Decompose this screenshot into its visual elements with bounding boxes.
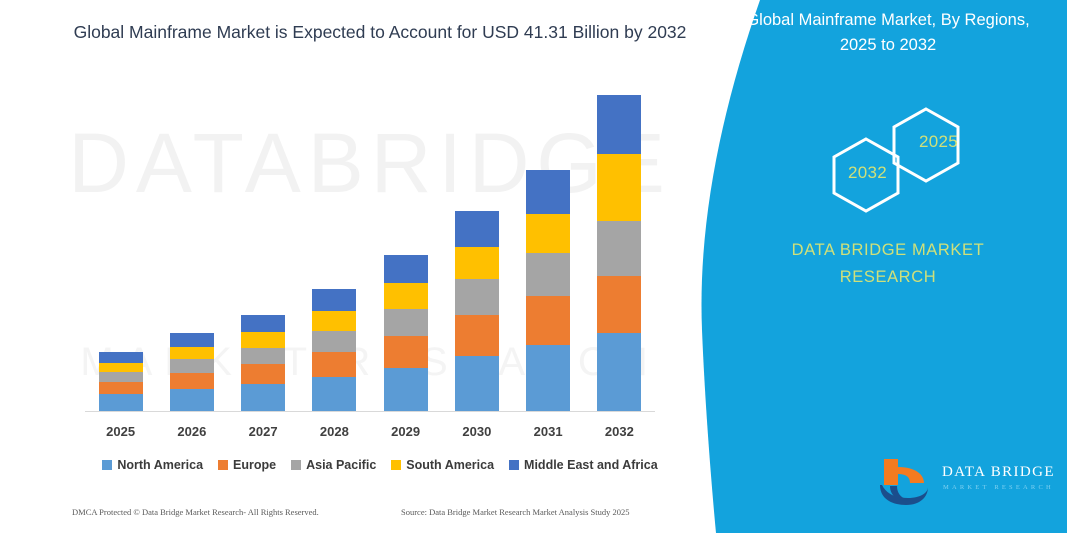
bar-group: [312, 289, 356, 411]
bar-group: [99, 352, 143, 411]
bar-segment: [99, 352, 143, 363]
legend-swatch-icon: [509, 460, 519, 470]
bar-segment: [455, 247, 499, 280]
x-axis-tick-label: 2031: [513, 424, 583, 439]
bar-group: [597, 95, 641, 411]
bar-segment: [312, 311, 356, 331]
bar-segment: [241, 364, 285, 384]
bar-segment: [99, 372, 143, 382]
legend-item[interactable]: South America: [391, 458, 494, 472]
legend-item[interactable]: Asia Pacific: [291, 458, 376, 472]
data-bridge-logo: DATA BRIDGE MARKET RESEARCH: [876, 455, 1066, 515]
bar-segment: [455, 211, 499, 247]
hexagon-icons: [806, 105, 1006, 215]
bar-segment: [170, 359, 214, 373]
bar-segment: [597, 154, 641, 221]
bar-segment: [241, 384, 285, 411]
x-axis-line: [85, 411, 655, 412]
bar-group: [241, 315, 285, 411]
bar-group: [455, 211, 499, 411]
legend-label: South America: [406, 458, 494, 472]
chart-legend: North AmericaEuropeAsia PacificSouth Ame…: [85, 455, 675, 475]
x-axis-tick-label: 2027: [228, 424, 298, 439]
bar-segment: [241, 332, 285, 347]
bar-segment: [312, 377, 356, 411]
bar-segment: [384, 336, 428, 368]
bar-group: [384, 255, 428, 411]
bar-segment: [455, 315, 499, 356]
legend-label: North America: [117, 458, 203, 472]
brand-line-1: DATA BRIDGE MARKET: [732, 237, 1044, 264]
bar-segment: [312, 331, 356, 352]
legend-label: Europe: [233, 458, 276, 472]
bar-segment: [170, 333, 214, 347]
bar-segment: [455, 356, 499, 411]
bar-segment: [526, 170, 570, 214]
legend-item[interactable]: North America: [102, 458, 203, 472]
bar-segment: [384, 255, 428, 283]
bar-segment: [384, 309, 428, 337]
bar-segment: [241, 348, 285, 365]
legend-label: Asia Pacific: [306, 458, 376, 472]
bar-segment: [597, 95, 641, 154]
bar-segment: [241, 315, 285, 332]
bar-chart-plot: [85, 95, 655, 411]
bar-segment: [312, 352, 356, 377]
bar-segment: [526, 253, 570, 295]
hexagon-group: 2025 2032: [806, 105, 1006, 215]
bar-segment: [597, 276, 641, 333]
legend-swatch-icon: [391, 460, 401, 470]
bar-segment: [170, 373, 214, 389]
bar-segment: [597, 221, 641, 277]
bar-segment: [384, 283, 428, 308]
bar-segment: [170, 389, 214, 411]
bar-group: [170, 333, 214, 411]
x-axis-tick-label: 2025: [86, 424, 156, 439]
brand-line-2: RESEARCH: [732, 264, 1044, 291]
bar-segment: [99, 382, 143, 394]
panel-content: Global Mainframe Market, By Regions, 202…: [706, 0, 1067, 533]
legend-swatch-icon: [102, 460, 112, 470]
bar-segment: [526, 345, 570, 411]
bar-group: [526, 170, 570, 411]
x-axis-tick-label: 2030: [442, 424, 512, 439]
logo-wordmark: DATA BRIDGE: [942, 464, 1055, 481]
hexagon-label-start: 2025: [919, 132, 958, 152]
bar-segment: [170, 347, 214, 359]
legend-swatch-icon: [291, 460, 301, 470]
bar-segment: [455, 279, 499, 314]
legend-swatch-icon: [218, 460, 228, 470]
hexagon-label-end: 2032: [848, 163, 887, 183]
x-axis-labels: 20252026202720282029203020312032: [85, 424, 655, 446]
bar-segment: [597, 333, 641, 411]
brand-name: DATA BRIDGE MARKET RESEARCH: [732, 237, 1044, 291]
logo-tagline: MARKET RESEARCH: [943, 484, 1054, 491]
footer: DMCA Protected © Data Bridge Market Rese…: [0, 507, 700, 527]
bar-segment: [526, 296, 570, 346]
logo-mark-icon: [876, 455, 936, 507]
footer-source: Source: Data Bridge Market Research Mark…: [401, 507, 630, 517]
legend-item[interactable]: Middle East and Africa: [509, 458, 658, 472]
panel-title: Global Mainframe Market, By Regions, 202…: [732, 8, 1044, 58]
chart-infographic: Global Mainframe Market is Expected to A…: [0, 0, 1067, 533]
bar-segment: [99, 394, 143, 411]
legend-item[interactable]: Europe: [218, 458, 276, 472]
bar-segment: [526, 214, 570, 254]
x-axis-tick-label: 2032: [584, 424, 654, 439]
bar-segment: [99, 363, 143, 372]
x-axis-tick-label: 2026: [157, 424, 227, 439]
bar-segment: [312, 289, 356, 311]
x-axis-tick-label: 2028: [299, 424, 369, 439]
x-axis-tick-label: 2029: [371, 424, 441, 439]
legend-label: Middle East and Africa: [524, 458, 658, 472]
page-title: Global Mainframe Market is Expected to A…: [60, 18, 700, 46]
bar-segment: [384, 368, 428, 411]
footer-copyright: DMCA Protected © Data Bridge Market Rese…: [72, 507, 319, 517]
